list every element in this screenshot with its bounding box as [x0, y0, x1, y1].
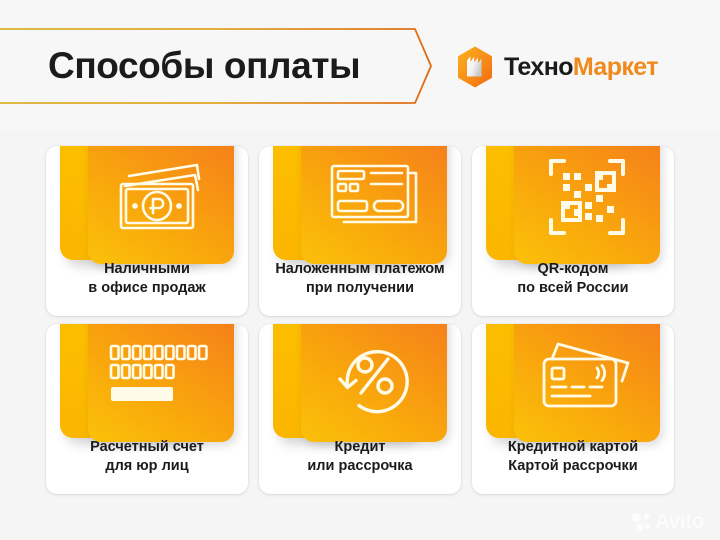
- card-label: Расчетный счет для юр лиц: [46, 438, 248, 476]
- page-title: Способы оплаты: [48, 38, 360, 94]
- account-number-card-icon: [109, 342, 213, 408]
- payment-method-card-qr[interactable]: QR-кодом по всей России: [472, 146, 674, 316]
- tile-stack: [46, 146, 248, 264]
- payment-method-card-cash-on-delivery[interactable]: Наложенным платежом при получении: [259, 146, 461, 316]
- card-label-line2: по всей России: [478, 279, 668, 298]
- tile-front-layer: [88, 324, 234, 442]
- card-label-line1: Наличными: [52, 260, 242, 279]
- tile-stack: [46, 324, 248, 442]
- tile-stack: [259, 324, 461, 442]
- tile-front-layer: [514, 324, 660, 442]
- card-label-line2: Картой рассрочки: [478, 457, 668, 476]
- card-label-line1: Кредитной картой: [478, 438, 668, 457]
- percent-circular-arrow-icon: [333, 334, 415, 416]
- brand-word-techno: Техно: [504, 53, 573, 81]
- card-label: Кредит или рассрочка: [259, 438, 461, 476]
- avito-watermark-text: Avito: [655, 511, 704, 532]
- tile-stack: [259, 146, 461, 264]
- invoice-form-icon: [326, 160, 422, 234]
- card-label-line1: Наложенным платежом: [265, 260, 455, 279]
- header-banner: Способы оплаты: [0, 0, 720, 130]
- tile-front-layer: [301, 324, 447, 442]
- card-label: Наличными в офисе продаж: [46, 260, 248, 298]
- brand-logo-text: ТехноМаркет: [504, 55, 658, 80]
- payment-methods-grid: Наличными в офисе продаж: [46, 146, 674, 494]
- payment-method-card-credit-card[interactable]: Кредитной картой Картой рассрочки: [472, 324, 674, 494]
- card-label: Наложенным платежом при получении: [259, 260, 461, 298]
- card-label: QR-кодом по всей России: [472, 260, 674, 298]
- payment-method-card-bank-account[interactable]: Расчетный счет для юр лиц: [46, 324, 248, 494]
- qr-code-icon: [547, 157, 627, 237]
- card-label: Кредитной картой Картой рассрочки: [472, 438, 674, 476]
- card-label-line2: при получении: [265, 279, 455, 298]
- card-label-line2: для юр лиц: [52, 457, 242, 476]
- tile-front-layer: [301, 146, 447, 264]
- payment-method-card-cash[interactable]: Наличными в офисе продаж: [46, 146, 248, 316]
- card-label-line1: QR-кодом: [478, 260, 668, 279]
- credit-cards-contactless-icon: [538, 337, 636, 413]
- brand-logo[interactable]: ТехноМаркет: [455, 45, 658, 89]
- tile-front-layer: [514, 146, 660, 264]
- avito-dots-icon: [631, 512, 651, 532]
- avito-watermark: Avito: [631, 511, 704, 532]
- card-label-line2: в офисе продаж: [52, 279, 242, 298]
- card-label-line2: или рассрочка: [265, 457, 455, 476]
- hexagon-skyline-icon: [455, 45, 495, 89]
- card-label-line1: Кредит: [265, 438, 455, 457]
- card-label-line1: Расчетный счет: [52, 438, 242, 457]
- banknotes-ruble-icon: [113, 160, 209, 234]
- tile-stack: [472, 146, 674, 264]
- payment-method-card-credit[interactable]: Кредит или рассрочка: [259, 324, 461, 494]
- tile-front-layer: [88, 146, 234, 264]
- brand-word-market: Маркет: [573, 53, 658, 81]
- tile-stack: [472, 324, 674, 442]
